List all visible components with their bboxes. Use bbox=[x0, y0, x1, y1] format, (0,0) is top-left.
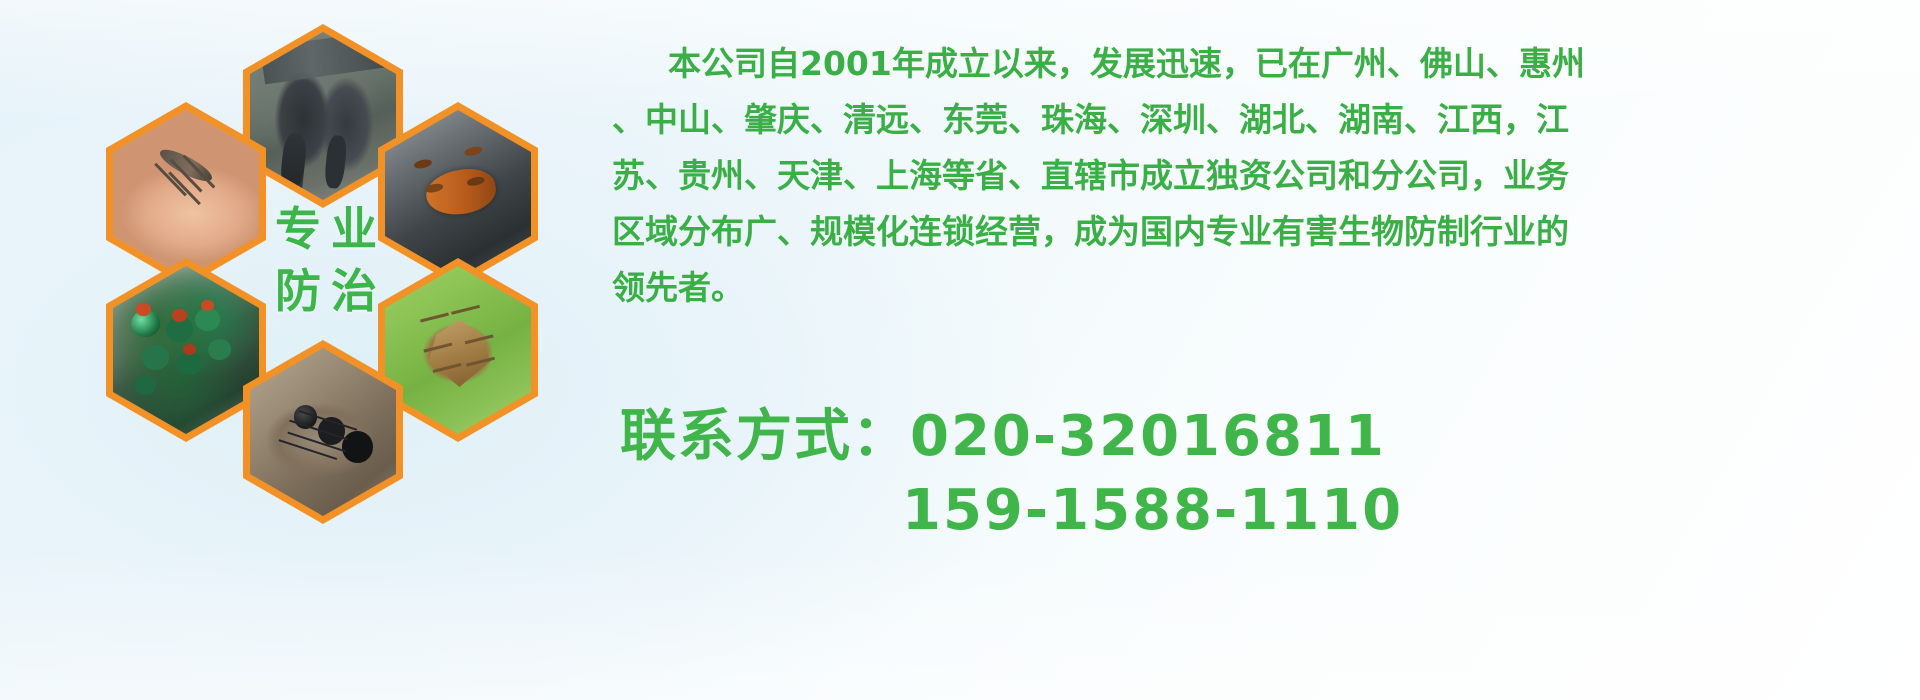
honeycomb-label-line1: 专业 bbox=[238, 198, 424, 260]
contact-phone-primary[interactable]: 020-32016811 bbox=[910, 404, 1386, 469]
contact-label: 联系方式： bbox=[620, 404, 910, 469]
contact-block: 联系方式：020-32016811 159-1588-1110 bbox=[620, 400, 1880, 548]
intro-line-1: 本公司自2001年成立以来，发展迅速，已在广州、佛山、惠州 bbox=[612, 36, 1912, 92]
rats-photo bbox=[250, 32, 396, 200]
intro-line-4: 区域分布广、规模化连锁经营，成为国内专业有害生物防制行业的 bbox=[612, 204, 1912, 260]
company-intro-paragraph: 本公司自2001年成立以来，发展迅速，已在广州、佛山、惠州 、中山、肇庆、清远、… bbox=[612, 36, 1912, 316]
bottom-glow bbox=[0, 550, 1920, 700]
intro-line-3: 苏、贵州、天津、上海等省、直辖市成立独资公司和分公司，业务 bbox=[612, 148, 1912, 204]
honeycomb-center-label: 专业 防治 bbox=[238, 198, 424, 322]
intro-line-5: 领先者。 bbox=[612, 260, 1912, 316]
intro-line-2: 、中山、肇庆、清远、东莞、珠海、深圳、湖北、湖南、江西，江 bbox=[612, 92, 1912, 148]
ant-photo bbox=[250, 348, 396, 516]
honeycomb-label-line2: 防治 bbox=[238, 260, 424, 322]
contact-primary-row: 联系方式：020-32016811 bbox=[620, 400, 1880, 474]
promo-banner: 专业 防治 本公司自2001年成立以来，发展迅速，已在广州、佛山、惠州 、中山、… bbox=[0, 0, 1920, 700]
contact-secondary-row: 159-1588-1110 bbox=[620, 474, 1880, 548]
honeycomb-collage: 专业 防治 bbox=[88, 10, 588, 570]
contact-phone-secondary[interactable]: 159-1588-1110 bbox=[902, 478, 1403, 543]
